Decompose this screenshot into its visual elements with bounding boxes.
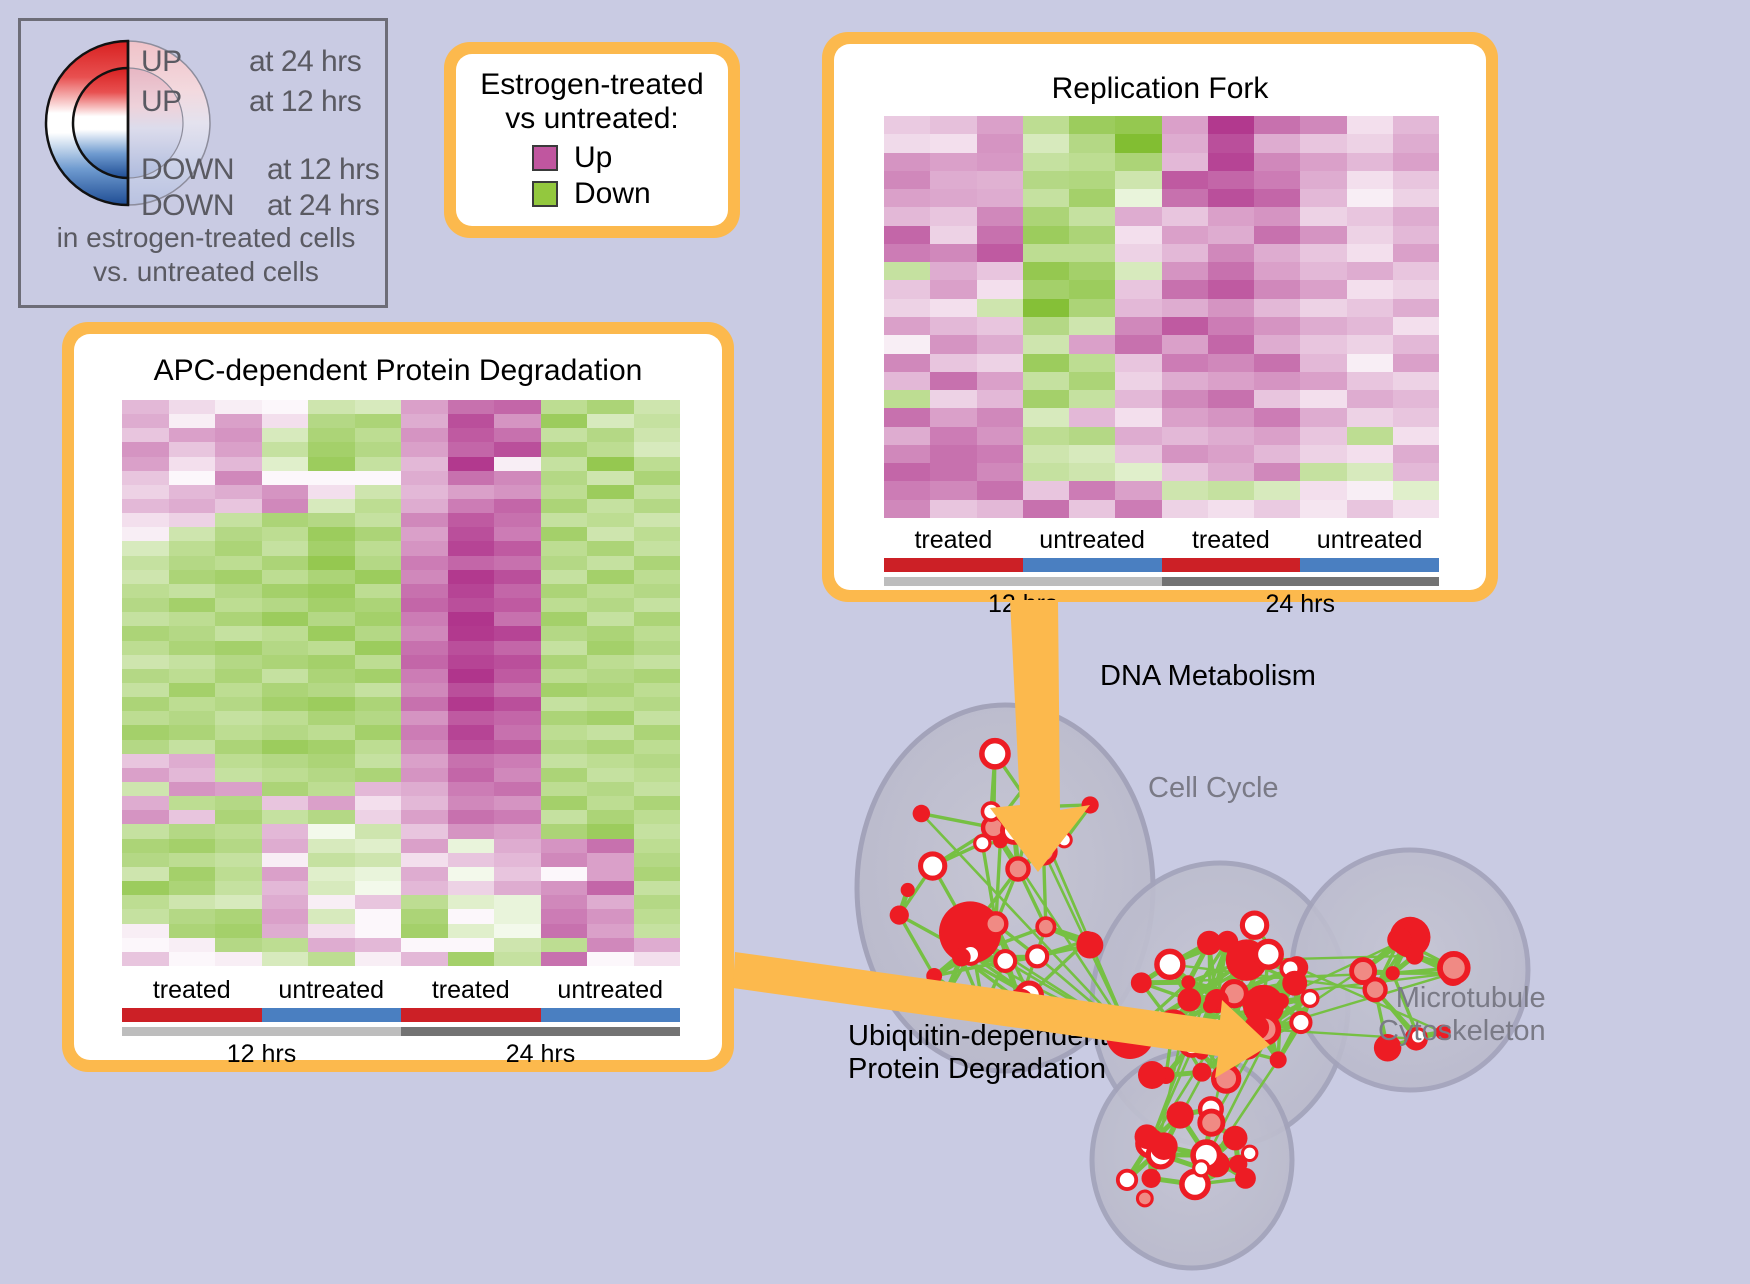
heatmap-cell xyxy=(262,796,309,810)
heatmap-cell xyxy=(494,485,541,499)
network-node[interactable] xyxy=(1242,913,1266,937)
heatmap-cell xyxy=(884,244,930,262)
heatmap-cell xyxy=(884,262,930,280)
network-node[interactable] xyxy=(1352,960,1375,983)
heatmap-cell xyxy=(1254,116,1300,134)
heatmap-cell xyxy=(122,895,169,909)
heatmap-cell xyxy=(1300,481,1346,499)
heatmap-cell xyxy=(262,499,309,513)
heatmap-cell xyxy=(262,867,309,881)
heatmap-cell xyxy=(308,810,355,824)
heatmap-cell xyxy=(308,442,355,456)
heatmap-cell xyxy=(977,317,1023,335)
network-node[interactable] xyxy=(952,948,971,967)
network-node[interactable] xyxy=(890,906,909,925)
heatmap-cell xyxy=(122,442,169,456)
heatmap-cell xyxy=(122,612,169,626)
network-node[interactable] xyxy=(1157,951,1183,977)
heatmap-cell xyxy=(448,740,495,754)
heatmap-cell xyxy=(587,768,634,782)
heatmap-cell xyxy=(884,134,930,152)
heatmap-cell xyxy=(355,570,402,584)
network-node[interactable] xyxy=(1234,1032,1262,1060)
network-node[interactable] xyxy=(1223,1126,1248,1151)
heatmap-cell xyxy=(541,697,588,711)
heatmap-cell xyxy=(930,189,976,207)
heatmap-cell xyxy=(977,463,1023,481)
heatmap-cell xyxy=(634,626,681,640)
heatmap-cell xyxy=(401,768,448,782)
heatmap-cell xyxy=(1162,280,1208,298)
heatmap-cell xyxy=(494,711,541,725)
wheel-row-1-label: UP xyxy=(141,85,182,119)
heatmap-cell xyxy=(587,513,634,527)
heatmap-cell xyxy=(884,463,930,481)
heatmap-cell xyxy=(448,796,495,810)
heatmap-cell xyxy=(494,570,541,584)
heatmap-cell xyxy=(587,909,634,923)
heatmap-cell xyxy=(634,527,681,541)
heatmap-cell xyxy=(494,924,541,938)
heatmap-cell xyxy=(122,768,169,782)
heatmap-cell xyxy=(1162,226,1208,244)
heatmap-cell xyxy=(401,457,448,471)
heatmap-cell xyxy=(587,626,634,640)
wheel-row-0-time: at 24 hrs xyxy=(249,45,361,79)
heatmap-cell xyxy=(215,683,262,697)
heatmap-cell xyxy=(494,810,541,824)
network-node[interactable] xyxy=(1118,1171,1136,1189)
network-node[interactable] xyxy=(1010,991,1032,1013)
heatmap-cell xyxy=(541,867,588,881)
heatmap-cell xyxy=(587,400,634,414)
heatmap-cell xyxy=(1069,153,1115,171)
heatmap-cell xyxy=(494,867,541,881)
heatmap-cell xyxy=(494,471,541,485)
heatmap-cell xyxy=(262,938,309,952)
network-node[interactable] xyxy=(1235,1168,1256,1189)
heatmap-cell xyxy=(977,500,1023,518)
network-node[interactable] xyxy=(1181,975,1195,989)
heatmap-cell xyxy=(884,481,930,499)
heatmap-cell xyxy=(448,711,495,725)
wheel-row-1-time: at 12 hrs xyxy=(249,85,361,119)
heatmap-cell xyxy=(215,669,262,683)
heatmap-cell xyxy=(1208,280,1254,298)
heatmap-cell xyxy=(930,280,976,298)
heatmap-cell xyxy=(541,839,588,853)
heatmap-cell xyxy=(448,485,495,499)
heatmap-cell xyxy=(634,513,681,527)
heatmap-cell xyxy=(122,711,169,725)
heatmap-cell xyxy=(1115,116,1161,134)
heatmap-cell xyxy=(1023,445,1069,463)
heatmap-cell xyxy=(930,372,976,390)
heatmap-cell xyxy=(401,839,448,853)
heatmap-cell xyxy=(308,457,355,471)
heatmap-cell xyxy=(262,598,309,612)
heatmap-cell xyxy=(884,408,930,426)
heatmap-cell xyxy=(884,427,930,445)
heatmap-cell xyxy=(122,400,169,414)
network-node[interactable] xyxy=(1076,932,1103,959)
heatmap-cell xyxy=(1347,445,1393,463)
network-node[interactable] xyxy=(913,805,930,822)
heatmap-cell xyxy=(122,556,169,570)
heatmap-cell xyxy=(1254,354,1300,372)
heatmap-cell xyxy=(122,457,169,471)
heatmap-cell xyxy=(215,952,262,966)
heatmap-cell xyxy=(169,754,216,768)
heatmap-cell xyxy=(169,541,216,555)
condition-bar-segment xyxy=(1162,558,1301,572)
network-node[interactable] xyxy=(1002,819,1026,843)
network-node[interactable] xyxy=(934,992,952,1010)
heatmap-cell xyxy=(587,442,634,456)
heatmap-cell xyxy=(262,641,309,655)
network-node[interactable] xyxy=(1386,966,1400,980)
heatmap-cell xyxy=(1162,299,1208,317)
heatmap-cell xyxy=(930,171,976,189)
heatmap-cell xyxy=(1347,226,1393,244)
heatmap-cell xyxy=(1069,481,1115,499)
heatmap-cell xyxy=(169,527,216,541)
heatmap-cell xyxy=(169,938,216,952)
heatmap-cell xyxy=(541,754,588,768)
network-node[interactable] xyxy=(982,803,999,820)
network-node[interactable] xyxy=(1255,941,1281,967)
heatmap-cell xyxy=(122,839,169,853)
heatmap-cell xyxy=(1023,390,1069,408)
heatmap-cell xyxy=(977,280,1023,298)
condition-label: untreated xyxy=(1023,526,1162,555)
heatmap-cell xyxy=(448,556,495,570)
heatmap-cell xyxy=(494,683,541,697)
heatmap-cell xyxy=(122,584,169,598)
heatmap-cell xyxy=(1300,207,1346,225)
network-node[interactable] xyxy=(1192,1063,1211,1082)
network-node[interactable] xyxy=(985,913,1006,934)
heatmap-cell xyxy=(1023,317,1069,335)
heatmap-cell xyxy=(634,641,681,655)
heatmap-cell xyxy=(1347,481,1393,499)
heatmap-cell xyxy=(1069,244,1115,262)
heatmap-cell xyxy=(634,683,681,697)
heatmap-cell xyxy=(355,768,402,782)
heatmap-cell xyxy=(355,641,402,655)
heatmap-cell xyxy=(215,853,262,867)
network-node[interactable] xyxy=(1024,759,1049,784)
heatmap-cell xyxy=(355,952,402,966)
heatmap-cell xyxy=(215,909,262,923)
network-node[interactable] xyxy=(1406,947,1424,965)
heatmap-cell xyxy=(122,414,169,428)
heatmap-cell xyxy=(308,938,355,952)
heatmap-cell xyxy=(541,556,588,570)
heatmap-cell xyxy=(930,134,976,152)
heatmap-cell xyxy=(169,895,216,909)
network-node[interactable] xyxy=(1106,1011,1154,1059)
heatmap-cell xyxy=(494,669,541,683)
heatmap-cell xyxy=(355,556,402,570)
heatmap-cell xyxy=(634,924,681,938)
network-node[interactable] xyxy=(901,883,915,897)
heatmap-cell xyxy=(169,881,216,895)
heatmap-cell xyxy=(262,881,309,895)
heatmap-cell xyxy=(448,414,495,428)
heatmap-cell xyxy=(1300,262,1346,280)
heatmap-cell xyxy=(1300,445,1346,463)
heatmap-cell xyxy=(355,513,402,527)
network-node[interactable] xyxy=(1273,993,1289,1009)
condition-label: untreated xyxy=(262,976,402,1005)
heatmap-cell xyxy=(215,881,262,895)
heatmap-cell xyxy=(977,226,1023,244)
heatmap-cell xyxy=(634,938,681,952)
heatmap-cell xyxy=(1162,354,1208,372)
heatmap-cell xyxy=(1115,134,1161,152)
heatmap-cell xyxy=(1162,463,1208,481)
heatmap-cell xyxy=(262,952,309,966)
network-node[interactable] xyxy=(1197,931,1221,955)
heatmap-cell xyxy=(1393,390,1439,408)
heatmap-cell xyxy=(1023,408,1069,426)
heatmap-cell xyxy=(448,428,495,442)
heatmap-cell xyxy=(541,655,588,669)
network-node[interactable] xyxy=(1181,1033,1204,1056)
network-node[interactable] xyxy=(1081,796,1098,813)
heatmap-cell xyxy=(587,541,634,555)
condition-labels: treateduntreatedtreateduntreated xyxy=(884,526,1439,555)
heatmap-cell xyxy=(1069,262,1115,280)
heatmap-cell xyxy=(541,895,588,909)
heatmap-cell xyxy=(1347,317,1393,335)
heatmap-cell xyxy=(401,881,448,895)
heatmap-cell xyxy=(401,541,448,555)
heatmap-cell xyxy=(215,414,262,428)
heatmap-cell xyxy=(169,612,216,626)
network-node[interactable] xyxy=(1387,928,1411,952)
heatmap-cell xyxy=(1023,116,1069,134)
heatmap-cell xyxy=(308,740,355,754)
cluster-label-cell-cycle: Cell Cycle xyxy=(1148,772,1279,805)
heatmap-cell xyxy=(448,584,495,598)
heatmap-cell xyxy=(169,414,216,428)
heatmap-cell xyxy=(541,740,588,754)
heatmap-cell xyxy=(930,463,976,481)
heatmap-cell xyxy=(122,641,169,655)
heatmap-cell xyxy=(494,584,541,598)
heatmap-cell xyxy=(541,471,588,485)
colorwheel-caption-line1: in estrogen-treated cells xyxy=(21,221,391,255)
heatmap-cell xyxy=(977,207,1023,225)
heatmap-cell xyxy=(930,116,976,134)
network-node[interactable] xyxy=(975,836,990,851)
network-node[interactable] xyxy=(1440,954,1468,982)
heatmap-cell xyxy=(634,584,681,598)
heatmap-cell xyxy=(215,697,262,711)
heatmap-cell xyxy=(541,881,588,895)
heatmap-cell xyxy=(1393,463,1439,481)
network-node[interactable] xyxy=(1007,858,1028,879)
network-node[interactable] xyxy=(921,854,945,878)
heatmap-cell xyxy=(541,626,588,640)
network-node[interactable] xyxy=(972,998,995,1021)
network-node[interactable] xyxy=(1282,971,1307,996)
heatmap-cell xyxy=(308,895,355,909)
network-node[interactable] xyxy=(1037,918,1054,935)
network-node[interactable] xyxy=(1214,1066,1239,1091)
heatmap-cell xyxy=(977,299,1023,317)
heatmap-cell xyxy=(634,895,681,909)
heatmap-cell xyxy=(1023,500,1069,518)
network-node[interactable] xyxy=(1057,833,1071,847)
heatmap-cell xyxy=(215,824,262,838)
heatmap-cell xyxy=(884,226,930,244)
network-node[interactable] xyxy=(1032,840,1055,863)
heatmap-cell xyxy=(122,754,169,768)
heatmap-cell xyxy=(1115,500,1161,518)
heatmap-cell xyxy=(355,824,402,838)
heatmap-cell xyxy=(308,471,355,485)
network-node[interactable] xyxy=(1177,988,1201,1012)
heatmap-cell xyxy=(541,414,588,428)
condition-label: untreated xyxy=(541,976,681,1005)
network-node[interactable] xyxy=(1270,1051,1287,1068)
network-node[interactable] xyxy=(1291,1013,1310,1032)
heatmap-cell xyxy=(977,153,1023,171)
heatmap-cell xyxy=(930,299,976,317)
heatmap-cell xyxy=(1208,189,1254,207)
heatmap-cell xyxy=(169,725,216,739)
heatmap-cell xyxy=(1069,189,1115,207)
heatmap-cell xyxy=(977,189,1023,207)
heatmap-cell xyxy=(494,612,541,626)
heatmap-cell xyxy=(355,711,402,725)
heatmap-cell xyxy=(215,457,262,471)
network-node[interactable] xyxy=(1203,999,1218,1014)
replication-fork-heatmap xyxy=(884,116,1439,518)
heatmap-cell xyxy=(355,527,402,541)
heatmap-cell xyxy=(1208,372,1254,390)
condition-bar-segment xyxy=(262,1008,402,1022)
heatmap-cell xyxy=(634,442,681,456)
heatmap-cell xyxy=(401,810,448,824)
heatmap-cell xyxy=(448,499,495,513)
heatmap-cell xyxy=(587,457,634,471)
heatmap-cell xyxy=(169,697,216,711)
heatmap-cell xyxy=(215,740,262,754)
heatmap-cell xyxy=(541,782,588,796)
heatmap-cell xyxy=(587,527,634,541)
heatmap-cell xyxy=(355,881,402,895)
heatmap-cell xyxy=(262,839,309,853)
heatmap-cell xyxy=(355,499,402,513)
heatmap-cell xyxy=(634,824,681,838)
heatmap-cell xyxy=(1393,207,1439,225)
network-node[interactable] xyxy=(1137,1191,1152,1206)
heatmap-cell xyxy=(1115,481,1161,499)
network-node[interactable] xyxy=(1142,1169,1161,1188)
heatmap-cell xyxy=(1162,481,1208,499)
heatmap-cell xyxy=(1162,153,1208,171)
network-node[interactable] xyxy=(1150,1132,1178,1160)
heatmap-cell xyxy=(634,796,681,810)
heatmap-cell xyxy=(215,782,262,796)
heatmap-cell xyxy=(1254,280,1300,298)
heatmap-cell xyxy=(587,570,634,584)
heatmap-cell xyxy=(401,754,448,768)
heatmap-cell xyxy=(977,481,1023,499)
network-node[interactable] xyxy=(926,968,942,984)
heatmap-cell xyxy=(1300,427,1346,445)
heatmap-cell xyxy=(355,740,402,754)
heatmap-cell xyxy=(1115,153,1161,171)
network-node[interactable] xyxy=(982,741,1008,767)
heatmap-cell xyxy=(215,612,262,626)
heatmap-cell xyxy=(1023,171,1069,189)
condition-color-bar xyxy=(884,558,1439,572)
heatmap-cell xyxy=(215,867,262,881)
heatmap-cell xyxy=(308,782,355,796)
heatmap-cell xyxy=(1208,445,1254,463)
heatmap-cell xyxy=(541,570,588,584)
heatmap-cell xyxy=(634,570,681,584)
heatmap-cell xyxy=(930,262,976,280)
heatmap-cell xyxy=(355,541,402,555)
heatmap-cell xyxy=(1347,280,1393,298)
wheel-row-0-label: UP xyxy=(141,45,182,79)
heatmap-cell xyxy=(541,584,588,598)
heatmap-cell xyxy=(930,354,976,372)
heatmap-cell xyxy=(541,725,588,739)
heatmap-cell xyxy=(1347,299,1393,317)
heatmap-cell xyxy=(587,839,634,853)
heatmap-cell xyxy=(884,445,930,463)
network-node[interactable] xyxy=(1021,797,1042,818)
timepoint-bar-segment xyxy=(884,577,1162,586)
heatmap-cell xyxy=(1115,390,1161,408)
heatmap-cell xyxy=(262,853,309,867)
heatmap-cell xyxy=(308,839,355,853)
heatmap-cell xyxy=(930,390,976,408)
network-node[interactable] xyxy=(1131,972,1152,993)
condition-label: treated xyxy=(401,976,541,1005)
network-node[interactable] xyxy=(995,951,1015,971)
heatmap-cell xyxy=(1069,500,1115,518)
heatmap-cell xyxy=(1254,408,1300,426)
heatmap-cell xyxy=(308,768,355,782)
heatmap-cell xyxy=(355,612,402,626)
heatmap-cell xyxy=(448,527,495,541)
heatmap-cell xyxy=(1162,335,1208,353)
heatmap-cell xyxy=(1393,262,1439,280)
heatmap-cell xyxy=(1393,299,1439,317)
heatmap-cell xyxy=(215,655,262,669)
heatmap-cell xyxy=(1347,427,1393,445)
network-node[interactable] xyxy=(1027,946,1047,966)
heatmap-cell xyxy=(930,335,976,353)
network-node[interactable] xyxy=(1194,1161,1209,1176)
heatmap-cell xyxy=(634,400,681,414)
heatmap-cell xyxy=(541,612,588,626)
heatmap-cell xyxy=(448,810,495,824)
heatmap-cell xyxy=(884,390,930,408)
network-node[interactable] xyxy=(1302,991,1318,1007)
network-node[interactable] xyxy=(1200,1111,1223,1134)
network-node[interactable] xyxy=(1166,1101,1193,1128)
network-node[interactable] xyxy=(1138,1061,1166,1089)
